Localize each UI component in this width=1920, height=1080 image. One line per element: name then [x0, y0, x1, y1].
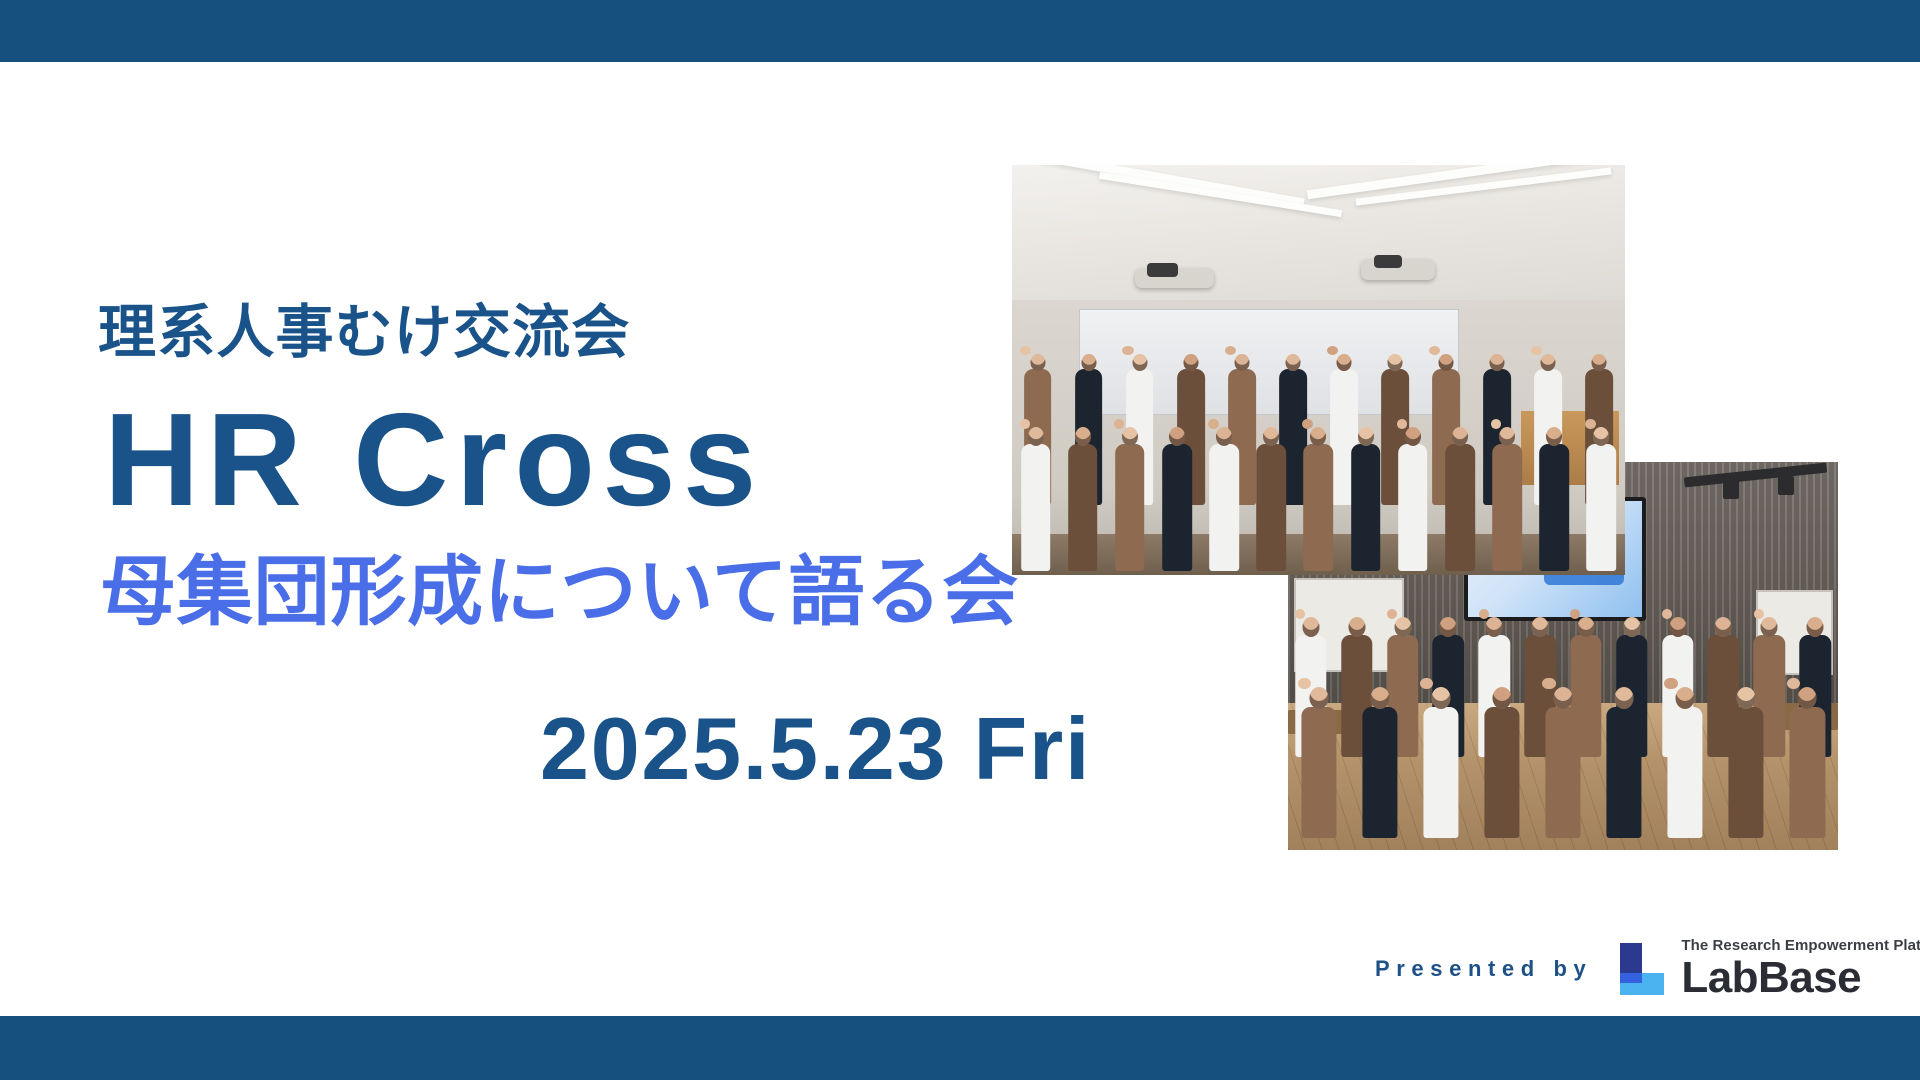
person-silhouette	[1012, 427, 1059, 571]
people-group	[1012, 165, 1625, 575]
person-torso	[1668, 707, 1703, 838]
person-silhouette	[1655, 687, 1716, 838]
person-torso	[1362, 707, 1397, 838]
person-head	[1761, 617, 1778, 637]
person-silhouette	[1349, 687, 1410, 838]
person-silhouette	[1777, 687, 1838, 838]
event-subtitle: 母集団形成について語る会	[0, 546, 1010, 637]
raised-fist	[1114, 419, 1124, 429]
raised-fist	[1570, 609, 1580, 620]
person-head	[1348, 617, 1365, 637]
raised-fist	[1662, 609, 1672, 620]
person-torso	[1162, 444, 1192, 571]
bottom-banner-bar	[0, 1016, 1920, 1080]
person-head	[1216, 427, 1232, 446]
raised-fist	[1298, 678, 1311, 690]
person-silhouette	[1716, 687, 1777, 838]
raised-fist	[1491, 419, 1501, 429]
raised-fist	[1020, 419, 1030, 429]
person-silhouette	[1531, 427, 1578, 571]
raised-fist	[1542, 678, 1555, 690]
person-head	[1490, 354, 1505, 372]
person-head	[1263, 427, 1279, 446]
person-head	[1715, 617, 1732, 637]
person-head	[1183, 354, 1198, 372]
person-head	[1075, 427, 1091, 446]
person-silhouette	[1342, 427, 1389, 571]
person-head	[1394, 617, 1411, 637]
event-eyebrow: 理系人事むけ交流会	[0, 300, 1010, 365]
person-head	[1499, 427, 1515, 446]
person-silhouette	[1389, 427, 1436, 571]
person-silhouette	[1295, 427, 1342, 571]
presented-by-label: Presented by	[1375, 956, 1592, 982]
person-silhouette	[1532, 687, 1593, 838]
person-head	[1132, 354, 1147, 372]
person-torso	[1115, 444, 1145, 571]
raised-fist	[1787, 678, 1800, 690]
person-head	[1030, 354, 1045, 372]
person-head	[1807, 617, 1824, 637]
raised-fist	[1479, 609, 1489, 620]
person-head	[1081, 354, 1096, 372]
person-silhouette	[1594, 687, 1655, 838]
person-head	[1358, 427, 1374, 446]
person-head	[1285, 354, 1300, 372]
person-torso	[1068, 444, 1098, 571]
person-head	[1234, 354, 1249, 372]
person-silhouette	[1578, 427, 1625, 571]
person-torso	[1729, 707, 1764, 838]
l-mark-overlap	[1620, 973, 1642, 983]
person-head	[1028, 427, 1044, 446]
group-photo-meeting-room	[1012, 165, 1625, 575]
person-torso	[1257, 444, 1287, 571]
person-torso	[1301, 707, 1336, 838]
person-silhouette	[1471, 687, 1532, 838]
person-head	[1623, 617, 1640, 637]
person-silhouette	[1059, 427, 1106, 571]
top-banner-bar	[0, 0, 1920, 62]
labbase-l-mark-icon	[1614, 943, 1668, 995]
raised-fist	[1531, 346, 1542, 355]
person-head	[1337, 354, 1352, 372]
raised-fist	[1225, 346, 1236, 355]
person-head	[1169, 427, 1185, 446]
presented-by-row: Presented by The Research Empowerment Pl…	[1375, 938, 1920, 1000]
person-silhouette	[1288, 687, 1349, 838]
raised-fist	[1295, 609, 1305, 620]
person-head	[1593, 427, 1609, 446]
person-torso	[1423, 707, 1458, 838]
person-torso	[1021, 444, 1051, 571]
person-torso	[1539, 444, 1569, 571]
raised-fist	[1020, 346, 1031, 355]
person-head	[1546, 427, 1562, 446]
person-silhouette	[1410, 687, 1471, 838]
person-silhouette	[1436, 427, 1483, 571]
raised-fist	[1664, 678, 1677, 690]
raised-fist	[1585, 419, 1595, 429]
person-head	[1388, 354, 1403, 372]
labbase-wordmark: LabBase	[1681, 956, 1920, 1001]
person-silhouette	[1201, 427, 1248, 571]
person-torso	[1607, 707, 1642, 838]
person-silhouette	[1248, 427, 1295, 571]
person-head	[1669, 617, 1686, 637]
raised-fist	[1387, 609, 1397, 620]
person-head	[1452, 427, 1468, 446]
person-head	[1439, 354, 1454, 372]
raised-fist	[1327, 346, 1338, 355]
person-head	[1122, 427, 1138, 446]
person-torso	[1445, 444, 1475, 571]
event-flyer-slide: 理系人事むけ交流会 HR Cross 母集団形成について語る会 2025.5.2…	[0, 0, 1920, 1080]
raised-fist	[1397, 419, 1407, 429]
person-torso	[1304, 444, 1334, 571]
person-head	[1405, 427, 1421, 446]
labbase-logo: The Research Empowerment Platform LabBas…	[1614, 938, 1920, 1000]
raised-fist	[1208, 419, 1218, 429]
person-torso	[1398, 444, 1428, 571]
person-torso	[1545, 707, 1580, 838]
raised-fist	[1420, 678, 1433, 690]
person-head	[1541, 354, 1556, 372]
person-head	[1302, 617, 1319, 637]
person-torso	[1587, 444, 1617, 571]
person-silhouette	[1106, 427, 1153, 571]
person-torso	[1790, 707, 1825, 838]
raised-fist	[1302, 419, 1312, 429]
person-head	[1310, 427, 1326, 446]
person-silhouette	[1153, 427, 1200, 571]
person-head	[1577, 617, 1594, 637]
person-torso	[1484, 707, 1519, 838]
raised-fist	[1429, 346, 1440, 355]
headline-text-block: 理系人事むけ交流会 HR Cross 母集団形成について語る会 2025.5.2…	[0, 300, 1010, 798]
person-head	[1532, 617, 1549, 637]
person-silhouette	[1484, 427, 1531, 571]
page-title: HR Cross	[0, 379, 1010, 540]
person-torso	[1209, 444, 1239, 571]
event-date: 2025.5.23 Fri	[0, 701, 1010, 798]
raised-fist	[1754, 609, 1764, 620]
person-torso	[1351, 444, 1381, 571]
person-head	[1592, 354, 1607, 372]
raised-fist	[1122, 346, 1133, 355]
person-head	[1486, 617, 1503, 637]
person-head	[1440, 617, 1457, 637]
person-torso	[1492, 444, 1522, 571]
